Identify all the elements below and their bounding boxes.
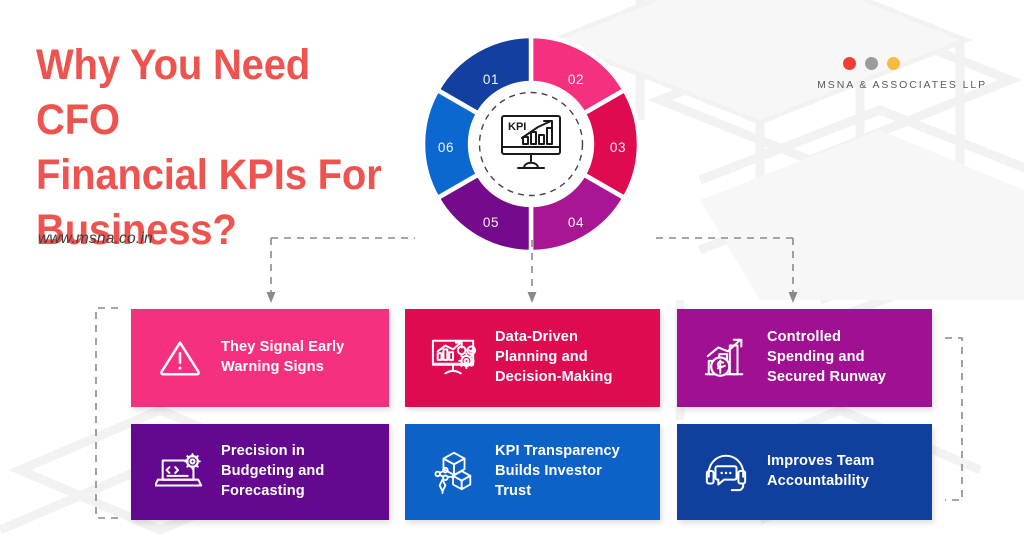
kpi-center-label: KPI: [508, 121, 526, 133]
kpi-card-label: Precision in Budgeting and Forecasting: [221, 442, 324, 502]
wheel-label-03: 03: [610, 140, 626, 155]
headset-chat-icon: [699, 445, 753, 499]
arrowhead-left: [267, 292, 276, 303]
bracket-left: [96, 308, 118, 518]
brand-name: MSNA & ASSOCIATES LLP: [817, 79, 987, 91]
arrowhead-right: [789, 292, 798, 303]
kpi-monitor-icon: KPI: [494, 113, 568, 175]
kpi-card-improves-team-accountability[interactable]: Improves Team Accountability: [677, 424, 932, 520]
arrowhead-center: [528, 292, 537, 303]
kpi-card-data-driven-planning-and-decision-making[interactable]: Data-Driven Planning and Decision-Making: [405, 309, 660, 407]
kpi-card-kpi-transparency-builds-investor-trust[interactable]: KPI Transparency Builds Investor Trust: [405, 424, 660, 520]
connector-right: [655, 238, 793, 293]
site-url[interactable]: www.msna.co.in: [38, 230, 153, 248]
logo-dot-gray: [865, 57, 878, 70]
kpi-card-precision-in-budgeting-and-forecasting[interactable]: Precision in Budgeting and Forecasting: [131, 424, 389, 520]
logo-dots: [843, 57, 987, 70]
logo-dot-amber: [887, 57, 900, 70]
growth-chart-dollar-icon: [699, 331, 753, 385]
brand-logo[interactable]: MSNA & ASSOCIATES LLP: [817, 57, 987, 91]
kpi-card-they-signal-early-warning-signs[interactable]: They Signal Early Warning Signs: [131, 309, 389, 407]
bracket-right: [945, 338, 962, 500]
kpi-card-label: They Signal Early Warning Signs: [221, 338, 344, 378]
wheel-label-06: 06: [438, 140, 454, 155]
kpi-card-label: Data-Driven Planning and Decision-Making: [495, 328, 612, 388]
wheel-label-04: 04: [568, 215, 584, 230]
wheel-label-02: 02: [568, 72, 584, 87]
kpi-card-controlled-spending-and-secured-runway[interactable]: Controlled Spending and Secured Runway: [677, 309, 932, 407]
wheel-label-05: 05: [483, 215, 499, 230]
blockchain-cubes-icon: [427, 445, 481, 499]
headline-block: Why You Need CFO Financial KPIs For Busi…: [36, 38, 416, 258]
kpi-wheel: 01 02 03 04 05 06: [419, 32, 643, 256]
logo-dot-red: [843, 57, 856, 70]
monitor-analytics-gear-icon: [427, 331, 481, 385]
kpi-card-label: Improves Team Accountability: [767, 452, 874, 492]
page-title: Why You Need CFO Financial KPIs For Busi…: [36, 38, 389, 258]
wheel-label-01: 01: [483, 72, 499, 87]
warning-triangle-icon: [153, 331, 207, 385]
kpi-card-label: Controlled Spending and Secured Runway: [767, 328, 886, 388]
laptop-code-gear-icon: [153, 445, 207, 499]
kpi-card-label: KPI Transparency Builds Investor Trust: [495, 442, 620, 502]
